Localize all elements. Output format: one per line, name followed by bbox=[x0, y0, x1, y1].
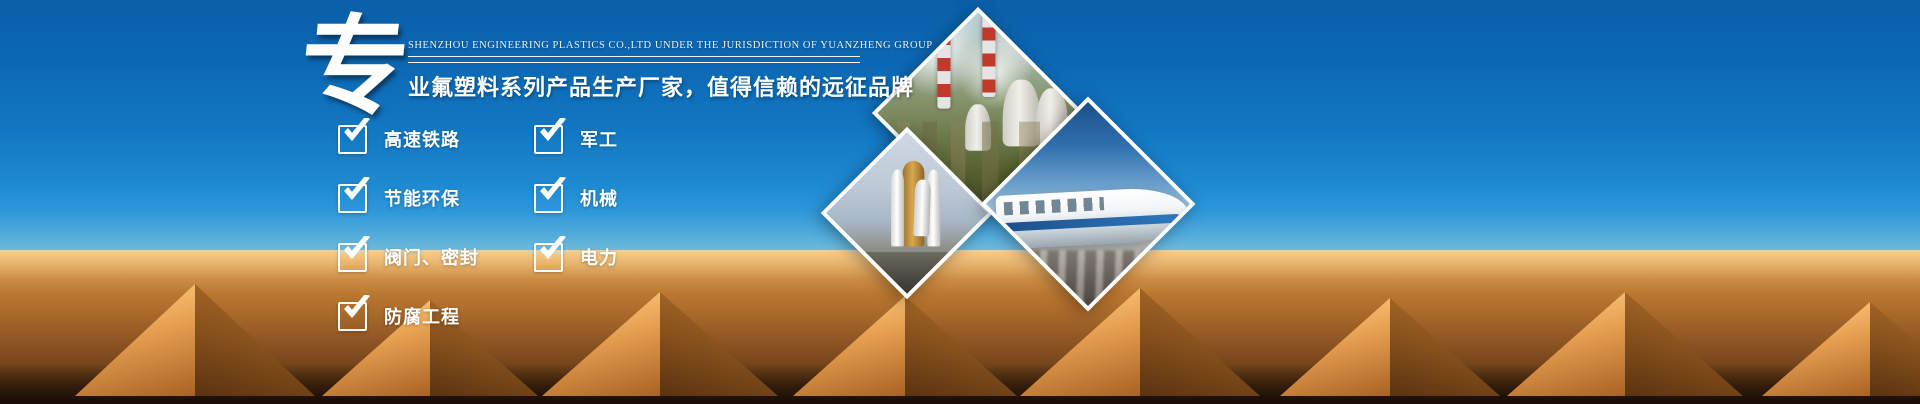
pyramid-lit-face bbox=[75, 284, 195, 396]
checkbox-checked bbox=[534, 125, 563, 154]
feature-label: 高速铁路 bbox=[384, 126, 460, 152]
feature-column-left: 高速铁路节能环保阀门、密封防腐工程 bbox=[338, 120, 479, 356]
pyramid bbox=[75, 284, 315, 396]
feature-item: 军工 bbox=[534, 120, 618, 158]
feature-label: 军工 bbox=[580, 126, 618, 152]
pyramid-lit-face bbox=[1762, 302, 1870, 396]
feature-item: 电力 bbox=[534, 238, 618, 276]
feature-item: 阀门、密封 bbox=[338, 238, 479, 276]
checkbox-checked bbox=[534, 184, 563, 213]
logo-character: 专 bbox=[294, 14, 413, 122]
check-tick-icon bbox=[537, 236, 567, 264]
pyramid-lit-face bbox=[1280, 298, 1390, 396]
feature-label: 机械 bbox=[580, 185, 618, 211]
pyramid-shaded-face bbox=[1625, 292, 1743, 396]
feature-item: 防腐工程 bbox=[338, 297, 479, 335]
pyramid bbox=[1762, 302, 1920, 396]
check-tick-icon bbox=[341, 118, 371, 146]
pyramid-front-layer bbox=[0, 234, 1920, 404]
pyramid-shaded-face bbox=[1140, 288, 1260, 396]
divider-rule bbox=[408, 56, 860, 63]
feature-label: 节能环保 bbox=[384, 185, 460, 211]
check-tick-icon bbox=[341, 177, 371, 205]
pyramid-shaded-face bbox=[195, 284, 315, 396]
checkbox-checked bbox=[338, 184, 367, 213]
feature-column-right: 军工机械电力 bbox=[534, 120, 618, 297]
pyramid-lit-face bbox=[542, 292, 660, 396]
pyramid-shaded-face bbox=[1870, 302, 1920, 396]
pyramid bbox=[1020, 288, 1260, 396]
pyramid bbox=[793, 296, 1017, 396]
english-tagline: SHENZHOU ENGINEERING PLASTICS CO.,LTD UN… bbox=[408, 40, 878, 51]
pyramid-lit-face bbox=[1507, 292, 1625, 396]
headline-block: SHENZHOU ENGINEERING PLASTICS CO.,LTD UN… bbox=[408, 40, 878, 102]
pyramid bbox=[542, 292, 778, 396]
check-tick-icon bbox=[341, 236, 371, 264]
feature-item: 机械 bbox=[534, 179, 618, 217]
feature-item: 高速铁路 bbox=[338, 120, 479, 158]
pyramid bbox=[1507, 292, 1743, 396]
pyramid-lit-face bbox=[793, 296, 905, 396]
check-tick-icon bbox=[537, 118, 567, 146]
checkbox-checked bbox=[338, 243, 367, 272]
checkbox-checked bbox=[534, 243, 563, 272]
checkbox-checked bbox=[338, 125, 367, 154]
checkbox-checked bbox=[338, 302, 367, 331]
pyramid-shaded-face bbox=[1390, 298, 1500, 396]
check-tick-icon bbox=[537, 177, 567, 205]
pyramid-shaded-face bbox=[660, 292, 778, 396]
check-tick-icon bbox=[341, 295, 371, 323]
feature-label: 电力 bbox=[580, 244, 618, 270]
chinese-tagline: 业氟塑料系列产品生产厂家，值得信赖的远征品牌 bbox=[408, 70, 878, 102]
feature-item: 节能环保 bbox=[338, 179, 479, 217]
feature-label: 防腐工程 bbox=[384, 303, 460, 329]
feature-label: 阀门、密封 bbox=[384, 244, 479, 270]
pyramid-shaded-face bbox=[905, 296, 1017, 396]
promotional-banner: 专 SHENZHOU ENGINEERING PLASTICS CO.,LTD … bbox=[0, 0, 1920, 404]
pyramid bbox=[1280, 298, 1500, 396]
